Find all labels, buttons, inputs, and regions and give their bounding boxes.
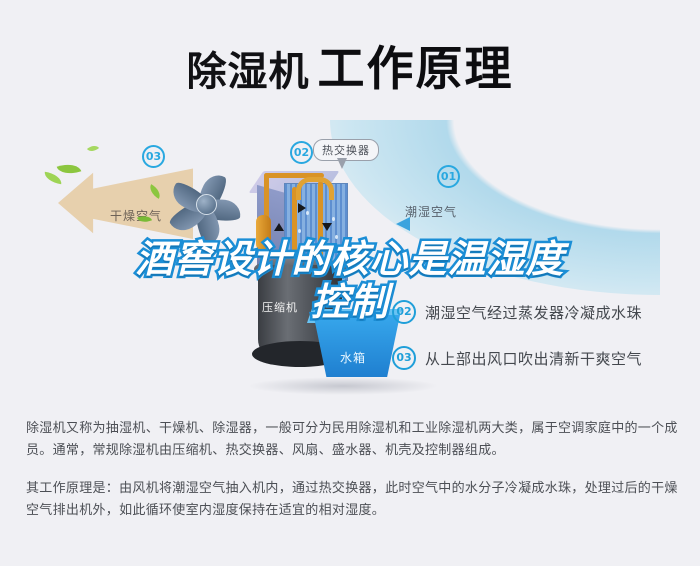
paragraph-spacer bbox=[26, 462, 678, 478]
water-tank-label: 水箱 bbox=[340, 349, 366, 366]
dehumidifier-unit: 压缩机 水箱 bbox=[236, 137, 396, 387]
flow-arrow-down-icon bbox=[322, 223, 332, 231]
callout-badge-02: 02 bbox=[290, 141, 313, 164]
intake-arrow-icon bbox=[396, 217, 410, 231]
legend-badge: 02 bbox=[392, 300, 416, 324]
paragraph-1: 除湿机又称为抽湿机、干燥机、除湿器，一般可分为民用除湿机和工业除湿机两大类，属于… bbox=[26, 418, 678, 462]
page-title: 除湿机工作原理 bbox=[0, 30, 700, 99]
leaf-icon bbox=[87, 143, 99, 155]
accumulator bbox=[256, 215, 271, 251]
compressor-label: 压缩机 bbox=[262, 299, 298, 315]
legend-badge: 03 bbox=[392, 346, 416, 370]
callout-badge-03: 03 bbox=[142, 145, 165, 168]
legend-label: 潮湿空气经过蒸发器冷凝成水珠 bbox=[425, 302, 642, 323]
dry-air-label: 干燥空气 bbox=[110, 207, 162, 224]
legend-item: 03 从上部出风口吹出清新干爽空气 bbox=[392, 346, 692, 370]
legend-list: 02 潮湿空气经过蒸发器冷凝成水珠 03 从上部出风口吹出清新干爽空气 bbox=[392, 300, 692, 392]
water-tank bbox=[308, 315, 400, 377]
legend-item: 02 潮湿空气经过蒸发器冷凝成水珠 bbox=[392, 300, 692, 324]
fan-hub bbox=[196, 194, 217, 215]
leaf-icon bbox=[57, 160, 82, 178]
callout-pointer-icon bbox=[337, 158, 347, 169]
flow-arrow-right-icon bbox=[298, 203, 306, 213]
legend-label: 从上部出风口吹出清新干爽空气 bbox=[425, 348, 642, 369]
copper-coil bbox=[296, 177, 334, 200]
infographic-page: 除湿机工作原理 干燥空气 bbox=[0, 0, 700, 566]
leaf-icon bbox=[43, 172, 62, 184]
page-title-secondary: 工作原理 bbox=[318, 42, 514, 97]
flow-arrow-up-icon bbox=[274, 223, 284, 231]
callout-badge-01: 01 bbox=[437, 165, 460, 188]
paragraph-2: 其工作原理是：由风机将潮湿空气抽入机内，通过热交换器，此时空气中的水分子冷凝成水… bbox=[26, 478, 678, 522]
humid-air-label: 潮湿空气 bbox=[405, 203, 457, 220]
article-body: 除湿机又称为抽湿机、干燥机、除湿器，一般可分为民用除湿机和工业除湿机两大类，属于… bbox=[26, 418, 678, 522]
page-title-primary: 除湿机 bbox=[187, 49, 310, 95]
